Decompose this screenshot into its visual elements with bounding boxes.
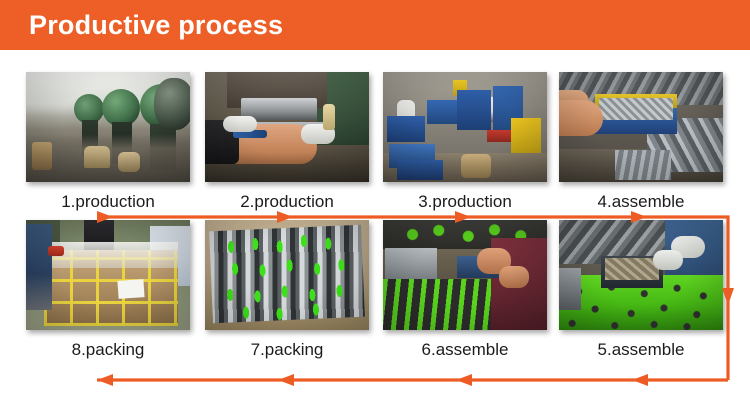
- process-grid: 1.production 2.production: [0, 50, 750, 414]
- process-photo-6: [383, 220, 547, 330]
- process-caption-8: 8.packing: [22, 340, 194, 360]
- process-photo-1: [26, 72, 190, 182]
- process-row-top: 1.production 2.production: [0, 72, 750, 222]
- process-step-4[interactable]: 4.assemble: [555, 72, 727, 212]
- process-caption-6: 6.assemble: [379, 340, 551, 360]
- process-photo-3: [383, 72, 547, 182]
- process-photo-7: [205, 220, 369, 330]
- process-step-7[interactable]: 7.packing: [201, 220, 373, 360]
- process-step-3[interactable]: 3.production: [379, 72, 551, 212]
- process-caption-7: 7.packing: [201, 340, 373, 360]
- process-step-1[interactable]: 1.production: [22, 72, 194, 212]
- process-row-bottom: 8.packing 7.packing: [0, 220, 750, 370]
- process-photo-2: [205, 72, 369, 182]
- process-caption-4: 4.assemble: [555, 192, 727, 212]
- page-title: Productive process: [29, 10, 283, 40]
- process-step-5[interactable]: 5.assemble: [555, 220, 727, 360]
- process-photo-8: [26, 220, 190, 330]
- process-caption-5: 5.assemble: [555, 340, 727, 360]
- process-caption-1: 1.production: [22, 192, 194, 212]
- header-bar: Productive process: [0, 0, 750, 50]
- process-step-6[interactable]: 6.assemble: [379, 220, 551, 360]
- process-photo-4: [559, 72, 723, 182]
- process-caption-3: 3.production: [379, 192, 551, 212]
- process-caption-2: 2.production: [201, 192, 373, 212]
- process-step-8[interactable]: 8.packing: [22, 220, 194, 360]
- process-photo-5: [559, 220, 723, 330]
- process-step-2[interactable]: 2.production: [201, 72, 373, 212]
